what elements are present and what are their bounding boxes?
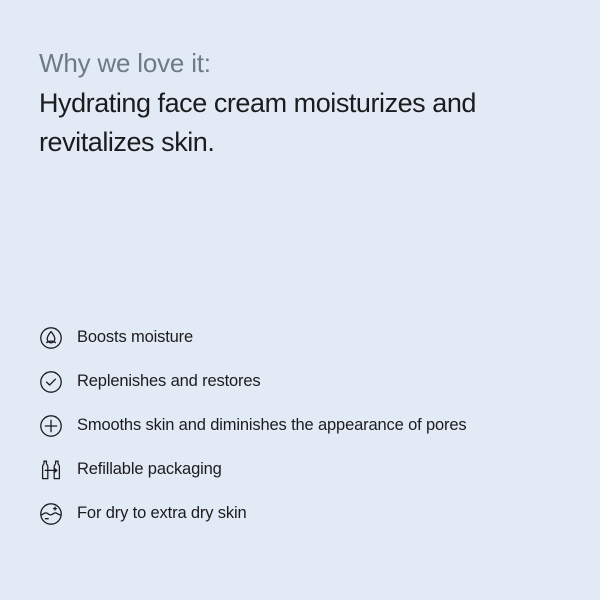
list-item-label: Smooths skin and diminishes the appearan… bbox=[77, 413, 467, 438]
list-item-label: Boosts moisture bbox=[77, 325, 193, 350]
check-circle-icon bbox=[39, 370, 63, 394]
list-item-label: For dry to extra dry skin bbox=[77, 501, 247, 526]
dry-skin-balance-circle-icon bbox=[39, 502, 63, 526]
heading-block: Why we love it: Hydrating face cream moi… bbox=[39, 46, 560, 162]
water-drop-circle-icon bbox=[39, 326, 63, 350]
list-item: Smooths skin and diminishes the appearan… bbox=[39, 413, 564, 438]
page-title: Hydrating face cream moisturizes and rev… bbox=[39, 84, 559, 162]
eyebrow-label: Why we love it: bbox=[39, 46, 560, 80]
list-item: Boosts moisture bbox=[39, 325, 564, 350]
plus-circle-icon bbox=[39, 414, 63, 438]
list-item-label: Refillable packaging bbox=[77, 457, 222, 482]
list-item: For dry to extra dry skin bbox=[39, 501, 564, 526]
list-item: Refillable packaging bbox=[39, 457, 564, 482]
list-item: Replenishes and restores bbox=[39, 369, 564, 394]
refill-bottles-icon bbox=[39, 458, 63, 482]
list-item-label: Replenishes and restores bbox=[77, 369, 261, 394]
benefits-list: Boosts moisture Replenishes and restores… bbox=[39, 325, 564, 526]
product-benefits-card: Why we love it: Hydrating face cream moi… bbox=[0, 0, 600, 600]
